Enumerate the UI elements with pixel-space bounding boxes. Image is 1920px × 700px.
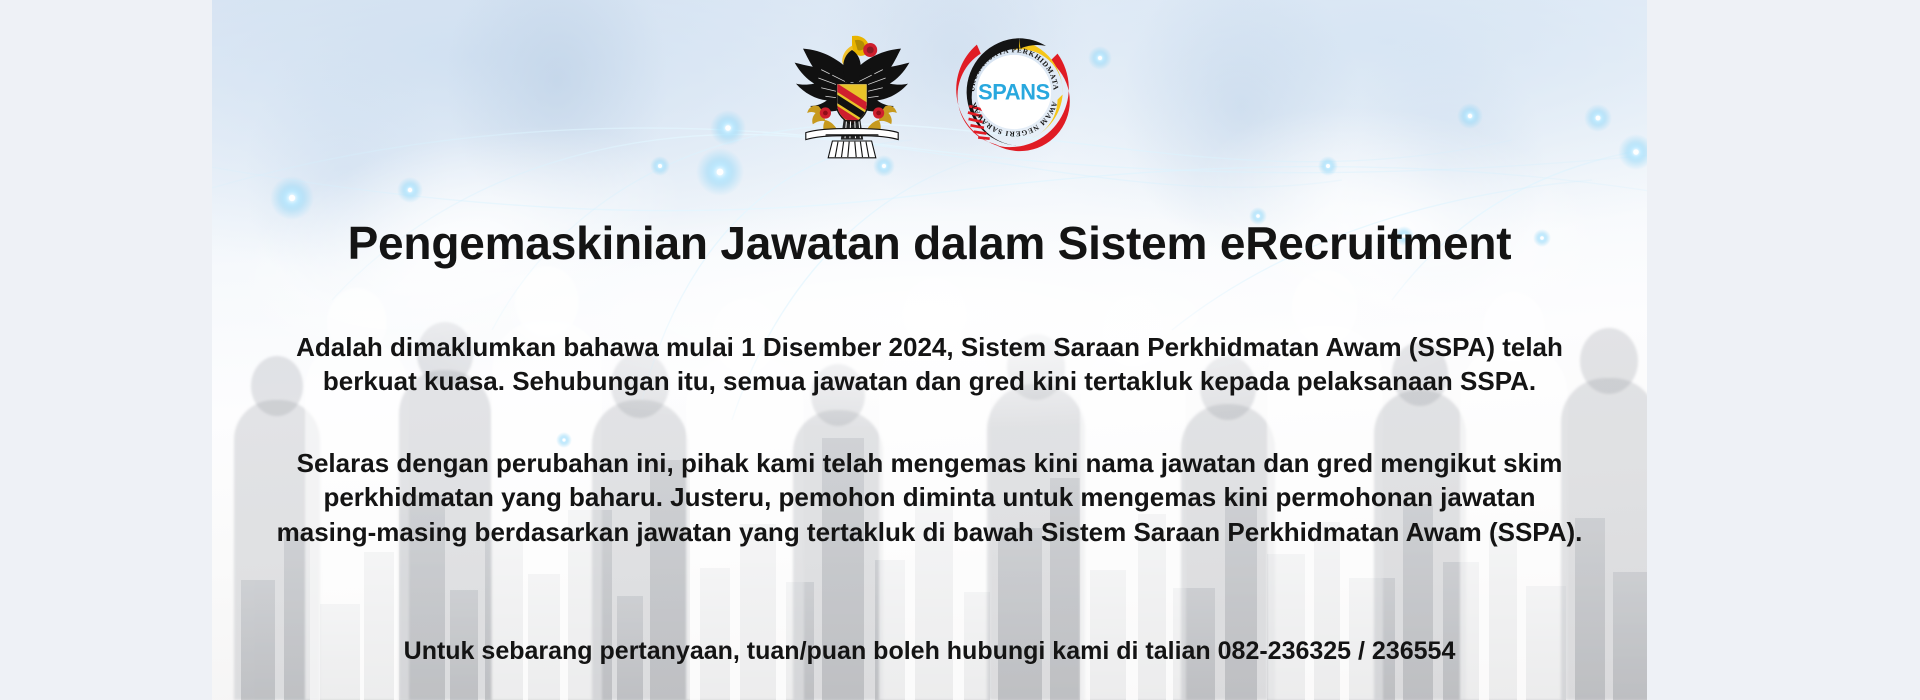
page-title: Pengemaskinian Jawatan dalam Sistem eRec… — [212, 218, 1647, 269]
paragraph-one-line-1: Adalah dimaklumkan bahawa mulai 1 Disemb… — [296, 332, 1563, 362]
paragraph-two-line-3: masing-masing berdasarkan jawatan yang t… — [277, 517, 1583, 547]
page-root: SURUHANJAYA PERKHIDMATAN AWAM NEGERI SAR… — [0, 0, 1920, 700]
paragraph-two-line-1: Selaras dengan perubahan ini, pihak kami… — [297, 448, 1563, 478]
paragraph-one-line-2: berkuat kuasa. Sehubungan itu, semua jaw… — [323, 366, 1536, 396]
announcement-banner: SURUHANJAYA PERKHIDMATAN AWAM NEGERI SAR… — [212, 0, 1647, 700]
paragraph-two-line-2: perkhidmatan yang baharu. Justeru, pemoh… — [323, 482, 1535, 512]
paragraph-one: Adalah dimaklumkan bahawa mulai 1 Disemb… — [212, 330, 1647, 399]
contact-line: Untuk sebarang pertanyaan, tuan/puan bol… — [212, 635, 1647, 668]
paragraph-two: Selaras dengan perubahan ini, pihak kami… — [212, 446, 1647, 549]
banner-content: Pengemaskinian Jawatan dalam Sistem eRec… — [212, 0, 1647, 700]
